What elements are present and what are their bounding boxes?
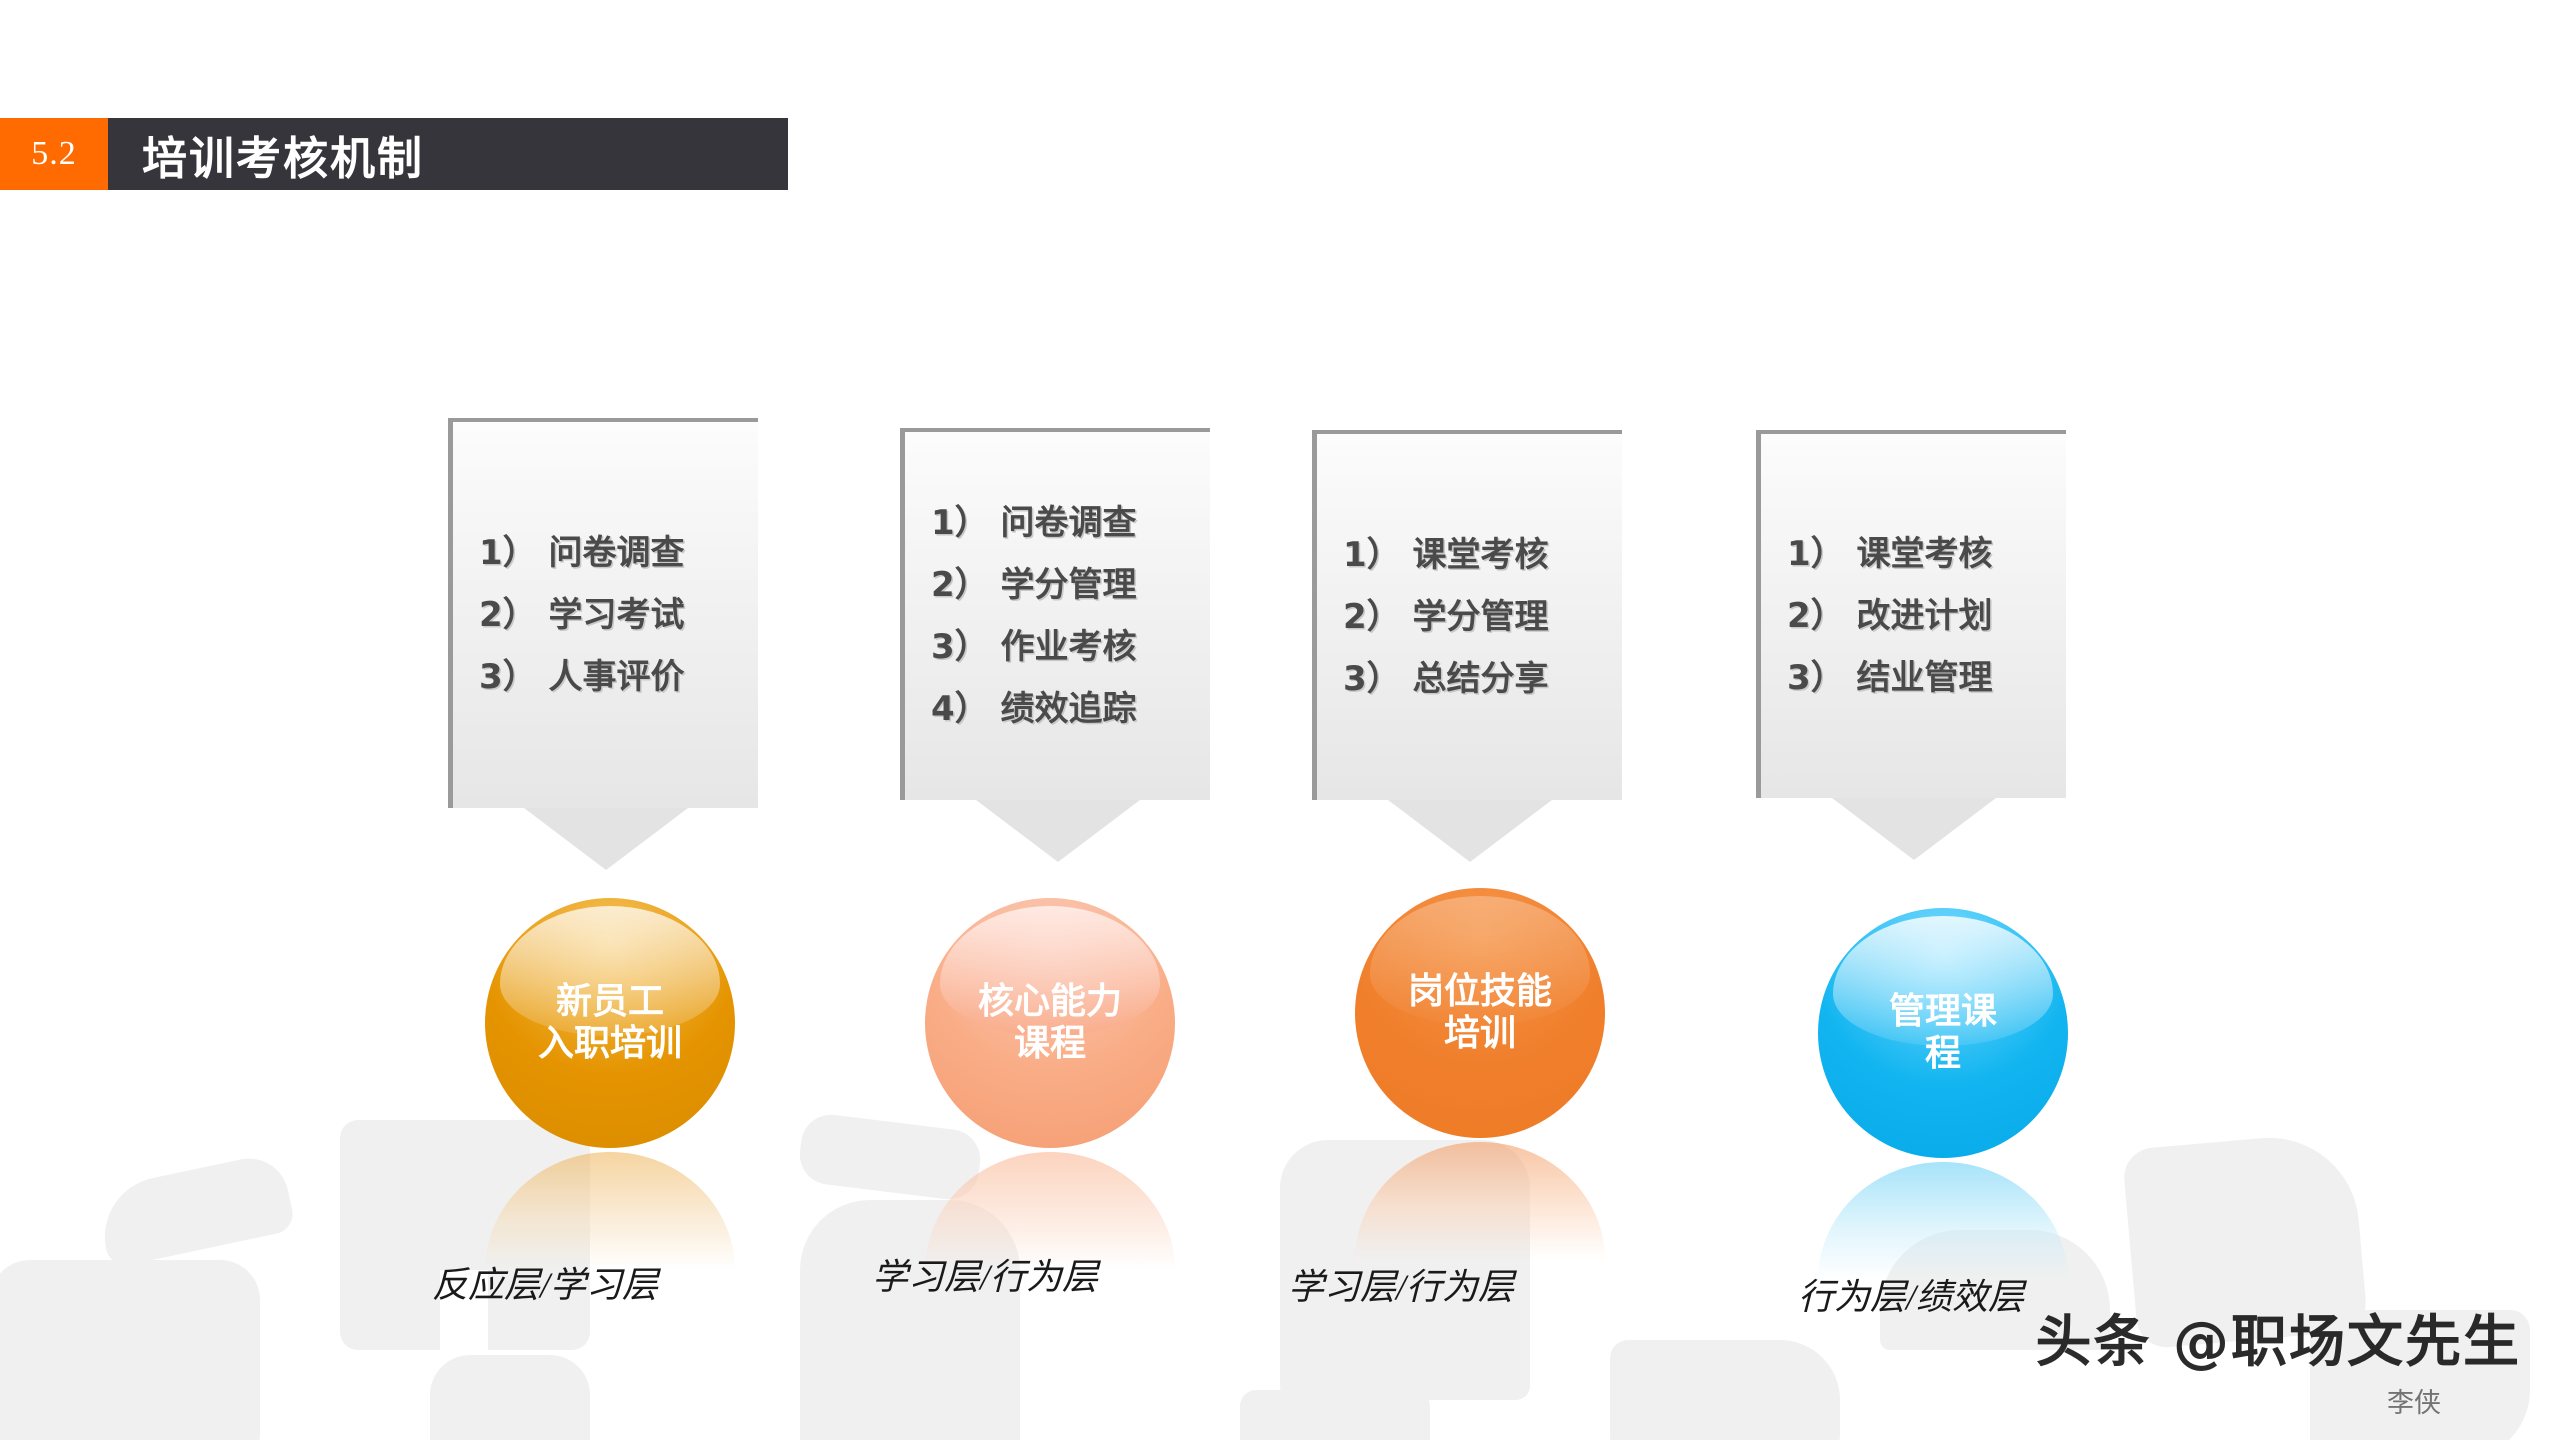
circle-3-label-line2: 培训 xyxy=(1444,1013,1516,1054)
circle-column-2[interactable]: 核心能力 课程 xyxy=(925,898,1175,1270)
bg-shape-tshirt-left xyxy=(0,1260,260,1440)
card-4-item-2: 2） 改进计划 xyxy=(1787,599,2066,633)
circle-3-reflection xyxy=(1355,1142,1605,1260)
card-3-arrow-tail-icon xyxy=(1388,800,1552,862)
watermark-sub: 李侠 xyxy=(2387,1381,2441,1420)
card-4-arrow-tail-icon xyxy=(1832,798,1996,860)
slide-header: 5.2 培训考核机制 xyxy=(0,118,788,190)
layer-label-1: 反应层/学习层 xyxy=(432,1256,658,1308)
circle-3[interactable]: 岗位技能 培训 xyxy=(1355,888,1605,1138)
card-2-arrow-tail-icon xyxy=(976,800,1140,862)
circle-3-label-line1: 岗位技能 xyxy=(1408,971,1552,1012)
circle-3-label: 岗位技能 培训 xyxy=(1396,971,1564,1056)
circle-4[interactable]: 管理课 程 xyxy=(1818,908,2068,1158)
bg-shape-glove xyxy=(430,1355,590,1440)
card-1-item-3: 3） 人事评价 xyxy=(479,660,758,694)
circle-1[interactable]: 新员工 入职培训 xyxy=(485,898,735,1148)
circle-2-label: 核心能力 课程 xyxy=(966,981,1134,1066)
card-column-3[interactable]: 1） 课堂考核 2） 学分管理 3） 总结分享 xyxy=(1312,430,1622,800)
background-watermark-graphics xyxy=(0,1110,2559,1440)
bg-shape-cap xyxy=(94,1151,296,1269)
page-title: 培训考核机制 xyxy=(108,118,788,190)
circle-4-label: 管理课 程 xyxy=(1877,991,2009,1076)
bg-shape-shoe xyxy=(1610,1340,1840,1440)
bg-shape-pants xyxy=(1240,1390,1430,1440)
slide-canvas: 5.2 培训考核机制 1） 问卷调查 2） 学习考试 3） 人事评价 1） 问卷… xyxy=(0,0,2559,1440)
section-number: 5.2 xyxy=(0,118,108,190)
card-2-item-3: 3） 作业考核 xyxy=(931,630,1210,664)
circle-4-label-line1: 管理课 xyxy=(1889,991,1997,1032)
card-1-item-2: 2） 学习考试 xyxy=(479,598,758,632)
circle-4-reflection xyxy=(1818,1162,2068,1280)
circle-1-label: 新员工 入职培训 xyxy=(526,981,694,1066)
watermark-main: 头条 @职场文先生 xyxy=(2036,1297,2522,1378)
circle-2[interactable]: 核心能力 课程 xyxy=(925,898,1175,1148)
card-3-item-3: 3） 总结分享 xyxy=(1343,662,1622,696)
layer-label-2: 学习层/行为层 xyxy=(872,1248,1098,1300)
layer-label-4: 行为层/绩效层 xyxy=(1798,1268,2024,1320)
card-2-item-4: 4） 绩效追踪 xyxy=(931,692,1210,726)
card-3-item-2: 2） 学分管理 xyxy=(1343,600,1622,634)
card-3-item-1: 1） 课堂考核 xyxy=(1343,538,1622,572)
circle-2-label-line1: 核心能力 xyxy=(978,981,1122,1022)
card-2-item-2: 2） 学分管理 xyxy=(931,568,1210,602)
circle-column-3[interactable]: 岗位技能 培训 xyxy=(1355,888,1605,1260)
card-column-2[interactable]: 1） 问卷调查 2） 学分管理 3） 作业考核 4） 绩效追踪 xyxy=(900,428,1210,800)
card-4-item-3: 3） 结业管理 xyxy=(1787,661,2066,695)
circle-1-label-line1: 新员工 xyxy=(556,981,664,1022)
card-column-4[interactable]: 1） 课堂考核 2） 改进计划 3） 结业管理 xyxy=(1756,430,2066,798)
circle-2-label-line2: 课程 xyxy=(1014,1023,1086,1064)
circle-4-label-line2: 程 xyxy=(1925,1033,1961,1074)
circle-column-1[interactable]: 新员工 入职培训 xyxy=(485,898,735,1270)
card-column-1[interactable]: 1） 问卷调查 2） 学习考试 3） 人事评价 xyxy=(448,418,758,808)
card-1-item-1: 1） 问卷调查 xyxy=(479,536,758,570)
circle-1-reflection xyxy=(485,1152,735,1270)
layer-label-3: 学习层/行为层 xyxy=(1288,1258,1514,1310)
card-2-item-1: 1） 问卷调查 xyxy=(931,506,1210,540)
circle-column-4[interactable]: 管理课 程 xyxy=(1818,908,2068,1280)
circle-1-label-line2: 入职培训 xyxy=(538,1023,682,1064)
card-1-arrow-tail-icon xyxy=(524,808,688,870)
card-4-item-1: 1） 课堂考核 xyxy=(1787,537,2066,571)
